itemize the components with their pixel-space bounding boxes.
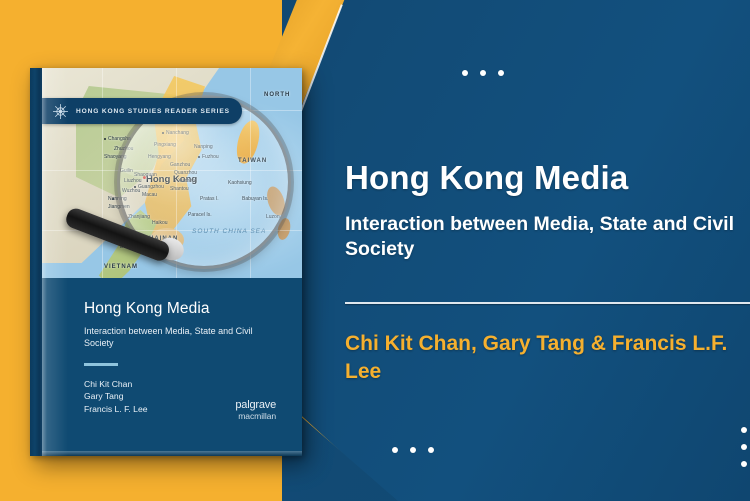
decorative-dots-top: [462, 70, 504, 76]
book-cover-text-block: Hong Kong Media Interaction between Medi…: [42, 278, 302, 456]
book-spine: [30, 68, 42, 456]
dot-icon: [741, 427, 747, 433]
publisher-name-secondary: macmillan: [235, 411, 276, 422]
book-title: Hong Kong Media: [84, 300, 280, 318]
book-author-line: Chi Kit Chan: [84, 378, 280, 390]
book-spine-highlight: [42, 68, 47, 456]
decorative-dots-right-edge: [741, 427, 747, 467]
book-front-face: Hong KongTAIWANHAINANVIETNAMNORTHChangsh…: [30, 68, 302, 456]
dot-icon: [480, 70, 486, 76]
map-city-dot: [104, 138, 106, 140]
map-label: NORTH: [264, 92, 290, 98]
book-cover-image: Hong KongTAIWANHAINANVIETNAMNORTHChangsh…: [30, 68, 302, 456]
promo-title: Hong Kong Media: [345, 160, 735, 196]
book-bottom-edge: [42, 451, 302, 456]
promo-text-block: Hong Kong Media Interaction between Medi…: [345, 160, 735, 262]
dot-icon: [498, 70, 504, 76]
book-subtitle: Interaction between Media, State and Civ…: [84, 326, 280, 350]
compass-rose-icon: [52, 103, 69, 120]
publisher-logo: palgrave macmillan: [235, 400, 276, 422]
series-badge: HONG KONG STUDIES READER SERIES: [42, 98, 242, 124]
decorative-dots-bottom: [392, 447, 434, 453]
dot-icon: [428, 447, 434, 453]
map-city-dot: [112, 198, 114, 200]
dot-icon: [741, 461, 747, 467]
dot-icon: [392, 447, 398, 453]
book-cover-rule: [84, 363, 118, 366]
promo-subtitle: Interaction between Media, State and Civ…: [345, 212, 735, 262]
horizontal-divider: [345, 302, 750, 304]
dot-icon: [741, 444, 747, 450]
series-badge-label: HONG KONG STUDIES READER SERIES: [76, 108, 230, 115]
publisher-name-primary: palgrave: [235, 400, 276, 411]
promo-banner: Hong Kong Media Interaction between Medi…: [0, 0, 750, 501]
dot-icon: [410, 447, 416, 453]
promo-authors: Chi Kit Chan, Gary Tang & Francis L.F. L…: [345, 330, 735, 385]
dot-icon: [462, 70, 468, 76]
